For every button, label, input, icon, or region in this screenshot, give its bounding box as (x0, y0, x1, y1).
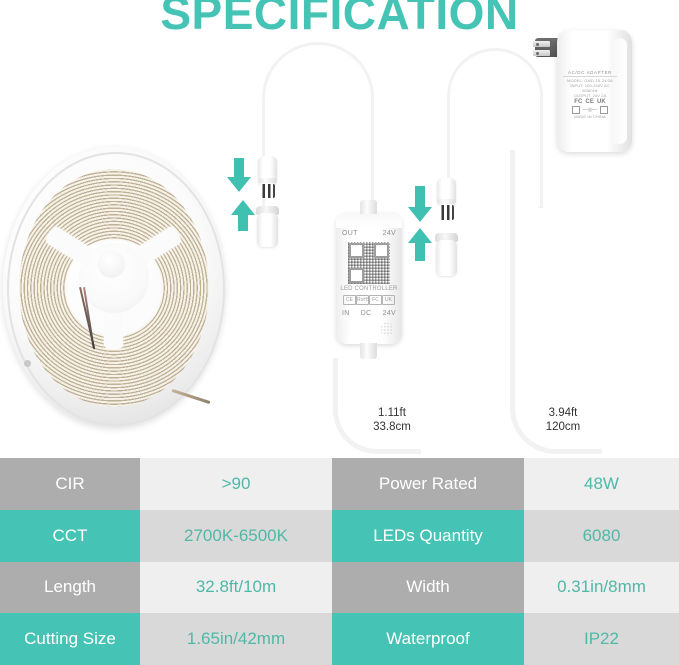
spec-label-power-rated: Power Rated (332, 458, 524, 510)
reel-hub-knob (99, 251, 124, 276)
measure-cm: 120cm (523, 420, 603, 434)
dc-plug-ring-left (258, 178, 277, 183)
spec-label-leds-quantity: LEDs Quantity (332, 510, 524, 562)
product-photo-area: OUT 24V LED CONTROLLER CE RoHS FC UK IN … (0, 0, 679, 455)
spec-value-power-rated: 48W (524, 458, 679, 510)
connect-arrow-down-left (227, 158, 251, 192)
measurement-controller-cable: 1.11ft 33.8cm (352, 406, 432, 434)
cert-mark-ce: CE (343, 295, 356, 305)
cert-mark-ce: CE (585, 100, 594, 105)
cert-mark-fc: FC (369, 295, 382, 305)
dc-socket-body-left (257, 213, 278, 247)
reel-mount-hole (24, 360, 31, 367)
wall-plug-prong-hole (536, 52, 539, 55)
dc-socket-body-right (436, 240, 457, 276)
indoor-use-icon (600, 106, 608, 114)
spec-value-waterproof: IP22 (524, 613, 679, 665)
polarity-icon: —◎— (583, 108, 598, 113)
measure-feet: 3.94ft (523, 406, 603, 420)
spec-value-cct: 2700K-6500K (140, 510, 332, 562)
connect-arrow-down-right (408, 186, 432, 222)
spec-label-width: Width (332, 562, 524, 614)
cert-mark-fcc: FC (574, 100, 582, 105)
spec-value-cir: >90 (140, 458, 332, 510)
spec-label-waterproof: Waterproof (332, 613, 524, 665)
measurement-adapter-cable: 3.94ft 120cm (523, 406, 603, 434)
spec-sheet: SPECIFICATION (0, 0, 679, 665)
adapter-label-title: AC/DC ADAPTER (563, 70, 617, 77)
cert-mark-rohs: RoHS (356, 295, 369, 305)
spec-value-leds-quantity: 6080 (524, 510, 679, 562)
adapter-cert-marks: FC CE UK (563, 100, 617, 105)
controller-out-label: OUT (342, 230, 358, 237)
wall-plug-prong-hole (536, 43, 539, 46)
adapter-label-output: OUTPUT: 24V 2A (563, 93, 617, 98)
cable-reel-to-controller-highlight (265, 45, 371, 231)
adapter-label-model: MODEL: GMD-1S-24/2A (563, 78, 617, 83)
controller-top-stub (360, 200, 377, 214)
controller-dc-label: DC (361, 310, 372, 317)
dc-plug-ring-right (437, 199, 456, 204)
power-adapter: AC/DC ADAPTER MODEL: GMD-1S-24/2A INPUT:… (557, 30, 632, 152)
dc-plug-pins-right (439, 205, 454, 220)
led-strip-reel (3, 147, 225, 427)
wifi-led-controller: OUT 24V LED CONTROLLER CE RoHS FC UK IN … (336, 212, 402, 344)
spec-label-cir: CIR (0, 458, 140, 510)
connect-arrow-up-right (408, 228, 432, 262)
controller-in-row: IN DC 24V (342, 310, 396, 317)
measure-cm: 33.8cm (352, 420, 432, 434)
spec-label-cutting-size: Cutting Size (0, 613, 140, 665)
controller-out-row: OUT 24V (342, 230, 396, 237)
controller-top-edge (336, 212, 402, 228)
dc-plug-pins-left (260, 184, 275, 198)
spec-label-cct: CCT (0, 510, 140, 562)
cert-mark-uk: UK (382, 295, 395, 305)
adapter-label: AC/DC ADAPTER MODEL: GMD-1S-24/2A INPUT:… (563, 70, 617, 119)
connect-arrow-up-left (231, 200, 255, 232)
adapter-symbol-marks: —◎— (563, 106, 617, 114)
controller-in-label: IN (342, 310, 350, 317)
spec-label-length: Length (0, 562, 140, 614)
adapter-label-origin: MADE IN CHINA (563, 114, 617, 119)
spec-value-cutting-size: 1.65in/42mm (140, 613, 332, 665)
controller-cert-marks: CE RoHS FC UK (343, 295, 395, 305)
measure-feet: 1.11ft (352, 406, 432, 420)
controller-out-voltage: 24V (383, 230, 396, 237)
spec-value-length: 32.8ft/10m (140, 562, 332, 614)
cert-mark-ukca: UK (597, 100, 606, 105)
controller-bottom-stub (360, 343, 377, 359)
spec-value-width: 0.31in/8mm (524, 562, 679, 614)
controller-indicator-icon (380, 322, 394, 336)
class2-icon (572, 106, 580, 114)
specification-table: CIR >90 Power Rated 48W CCT 2700K-6500K … (0, 458, 679, 665)
controller-name-label: LED CONTROLLER (336, 286, 402, 292)
adapter-label-input: INPUT: 100-240V AC (563, 83, 617, 88)
controller-in-voltage: 24V (383, 310, 396, 317)
qr-code (348, 242, 390, 284)
